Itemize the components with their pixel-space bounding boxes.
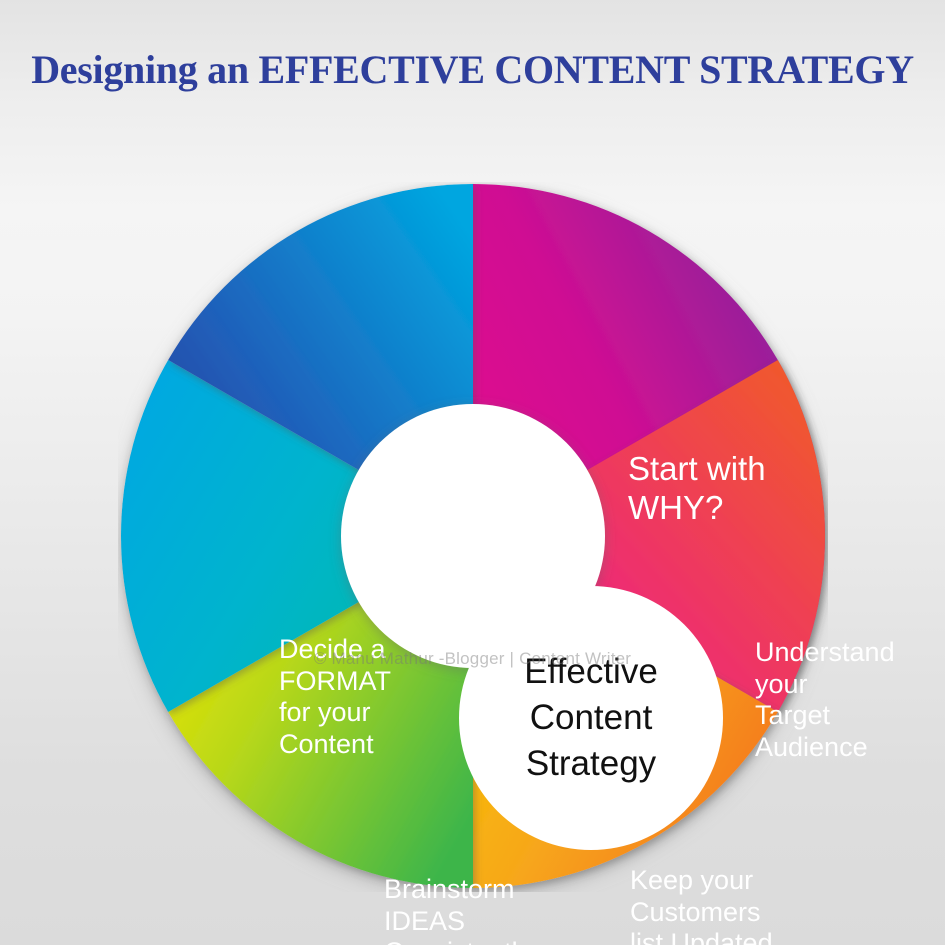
wheel-hub[interactable]: Effective Content Strategy xyxy=(459,586,723,850)
page-title: Designing an EFFECTIVE CONTENT STRATEGY xyxy=(0,46,945,93)
wheel-svg xyxy=(118,182,828,892)
content-strategy-wheel: Start with WHY? Understand your Target A… xyxy=(118,182,828,892)
infographic-canvas: Designing an EFFECTIVE CONTENT STRATEGY xyxy=(0,0,945,945)
hub-label: Effective Content Strategy xyxy=(524,649,658,788)
